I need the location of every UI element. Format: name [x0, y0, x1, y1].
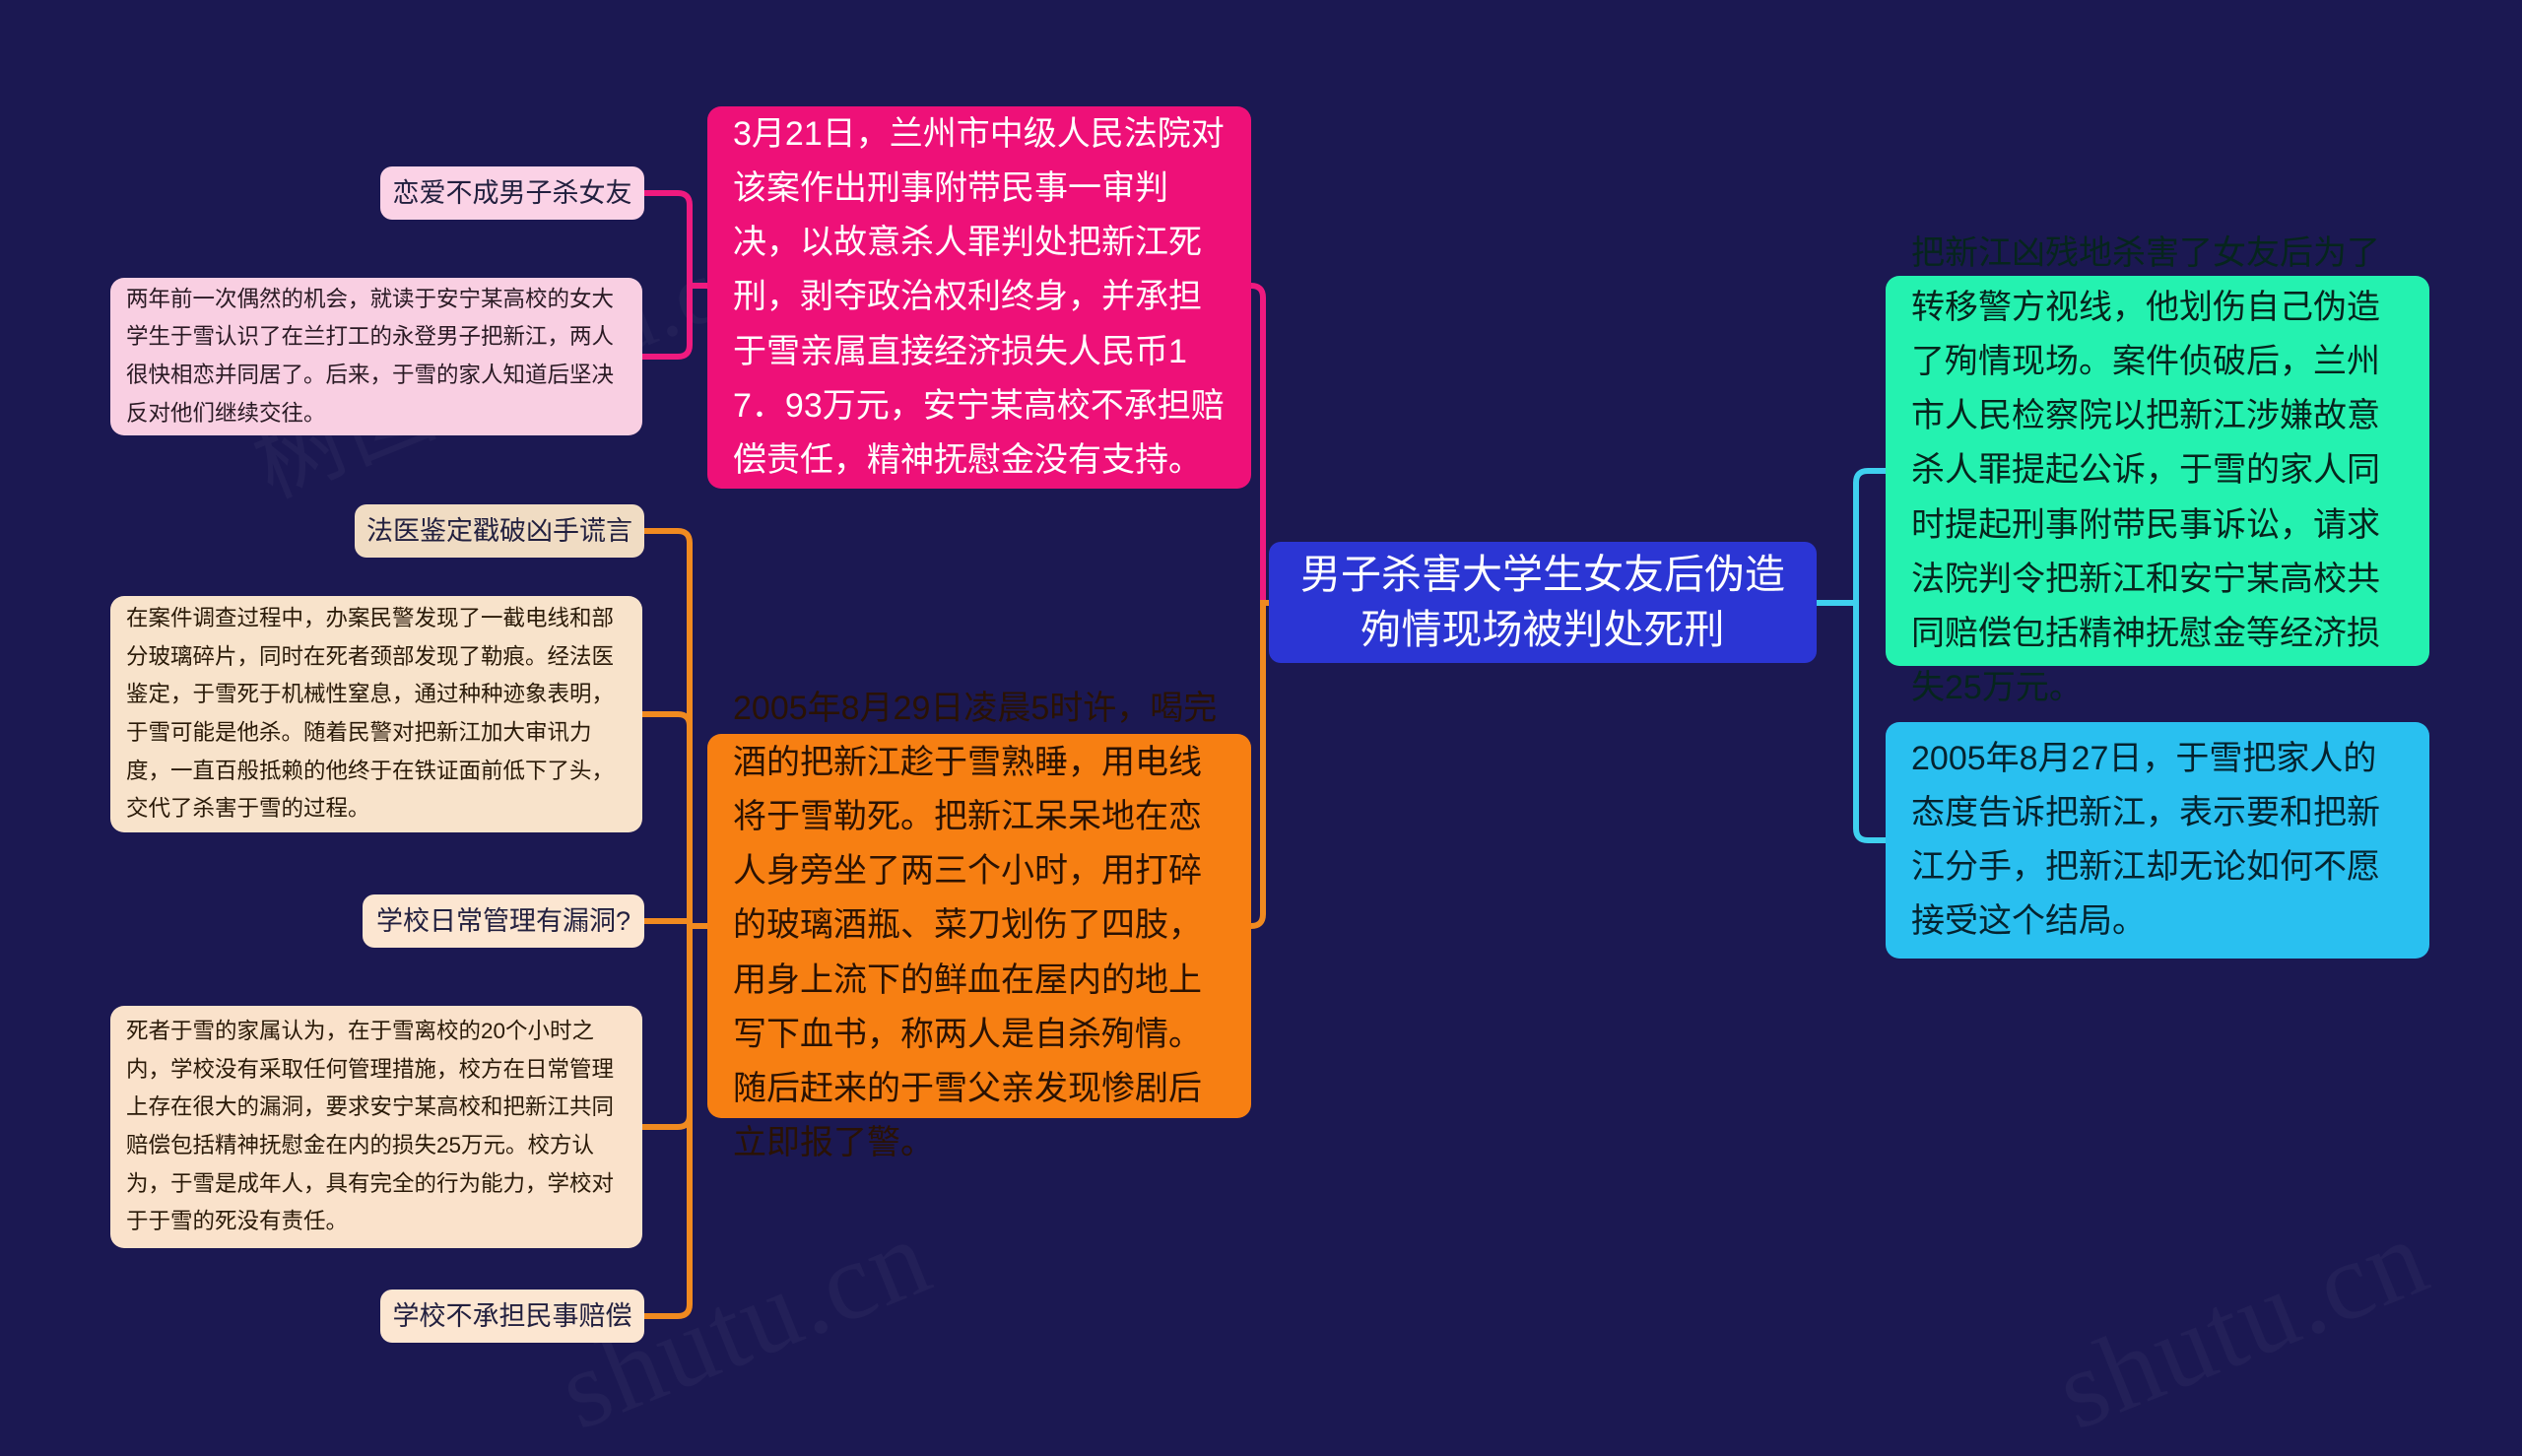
central-topic-text: 男子杀害大学生女友后伪造殉情现场被判处死刑 — [1269, 548, 1817, 657]
investigation-node[interactable]: 在案件调查过程中，办案民警发现了一截电线和部分玻璃碎片，同时在死者颈部发现了勒痕… — [110, 596, 642, 832]
mindmap-canvas: 树图·shutu.cn shutu.cn shutu.cn shutu.cn 男… — [0, 0, 2522, 1442]
crime-node[interactable]: 2005年8月29日凌晨5时许，喝完酒的把新江趁于雪熟睡，用电线将于雪勒死。把新… — [707, 734, 1251, 1118]
wire-crime-to-forensic-label — [644, 531, 690, 926]
label-love-murder-text: 恋爱不成男子杀女友 — [393, 180, 632, 207]
wire-crime-to-school-gap-label — [644, 921, 690, 926]
wire-crime-to-school-noliable-label — [644, 926, 690, 1316]
breakup-node[interactable]: 2005年8月27日，于雪把家人的态度告诉把新江，表示要和把新江分手，把新江却无… — [1886, 722, 2429, 959]
central-topic-node[interactable]: 男子杀害大学生女友后伪造殉情现场被判处死刑 — [1269, 542, 1817, 663]
wire-center-to-crime — [1251, 603, 1269, 926]
wire-right-trunk-to-breakup — [1856, 603, 1886, 840]
verdict-text: 3月21日，兰州市中级人民法院对该案作出刑事附带民事一审判决，以故意杀人罪判处把… — [707, 107, 1251, 488]
breakup-text: 2005年8月27日，于雪把家人的态度告诉把新江，表示要和把新江分手，把新江却无… — [1886, 732, 2429, 949]
wire-crime-to-family — [642, 926, 690, 1127]
label-school-management-gap[interactable]: 学校日常管理有漏洞? — [363, 894, 644, 948]
prosecution-text: 把新江凶残地杀害了女友后为了转移警方视线，他划伤自己伪造了殉情现场。案件侦破后，… — [1886, 227, 2429, 715]
label-forensic-evidence[interactable]: 法医鉴定戳破凶手谎言 — [355, 504, 644, 558]
wire-crime-to-investigation — [642, 714, 690, 926]
meeting-story-text: 两年前一次偶然的机会，就读于安宁某高校的女大学生于雪认识了在兰打工的永登男子把新… — [110, 281, 642, 433]
meeting-story-node[interactable]: 两年前一次偶然的机会，就读于安宁某高校的女大学生于雪认识了在兰打工的永登男子把新… — [110, 278, 642, 435]
label-school-management-gap-text: 学校日常管理有漏洞? — [376, 908, 630, 935]
prosecution-node[interactable]: 把新江凶残地杀害了女友后为了转移警方视线，他划伤自己伪造了殉情现场。案件侦破后，… — [1886, 276, 2429, 666]
wire-center-to-verdict — [1251, 286, 1269, 603]
label-school-no-liability-text: 学校不承担民事赔偿 — [393, 1303, 632, 1330]
label-forensic-evidence-text: 法医鉴定戳破凶手谎言 — [366, 518, 632, 545]
label-love-murder[interactable]: 恋爱不成男子杀女友 — [380, 166, 644, 220]
watermark: shutu.cn — [2039, 1193, 2445, 1456]
crime-text: 2005年8月29日凌晨5时许，喝完酒的把新江趁于雪熟睡，用电线将于雪勒死。把新… — [707, 682, 1251, 1170]
family-claim-node[interactable]: 死者于雪的家属认为，在于雪离校的20个小时之内，学校没有采取任何管理措施，校方在… — [110, 1006, 642, 1248]
family-claim-text: 死者于雪的家属认为，在于雪离校的20个小时之内，学校没有采取任何管理措施，校方在… — [110, 1013, 642, 1241]
label-school-no-liability[interactable]: 学校不承担民事赔偿 — [380, 1290, 644, 1343]
investigation-text: 在案件调查过程中，办案民警发现了一截电线和部分玻璃碎片，同时在死者颈部发现了勒痕… — [110, 600, 642, 828]
verdict-node[interactable]: 3月21日，兰州市中级人民法院对该案作出刑事附带民事一审判决，以故意杀人罪判处把… — [707, 106, 1251, 489]
